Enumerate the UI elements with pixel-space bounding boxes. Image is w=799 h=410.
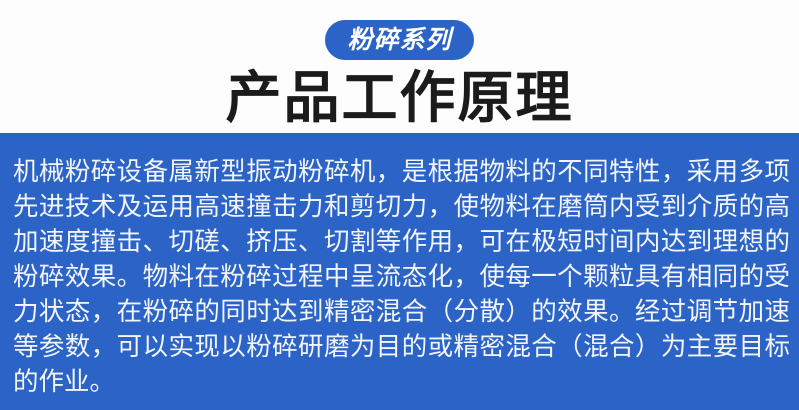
description-paragraph: 机械粉碎设备属新型振动粉碎机，是根据物料的不同特性，采用多项先进技术及运用高速撞… [13,155,790,400]
description-panel: 机械粉碎设备属新型振动粉碎机，是根据物料的不同特性，采用多项先进技术及运用高速撞… [0,133,799,410]
series-badge: 粉碎系列 [325,20,473,60]
page-title: 产品工作原理 [226,69,574,128]
product-principle-banner: 粉碎系列 产品工作原理 机械粉碎设备属新型振动粉碎机，是根据物料的不同特性，采用… [0,0,799,410]
header-section: 粉碎系列 产品工作原理 [0,0,799,133]
